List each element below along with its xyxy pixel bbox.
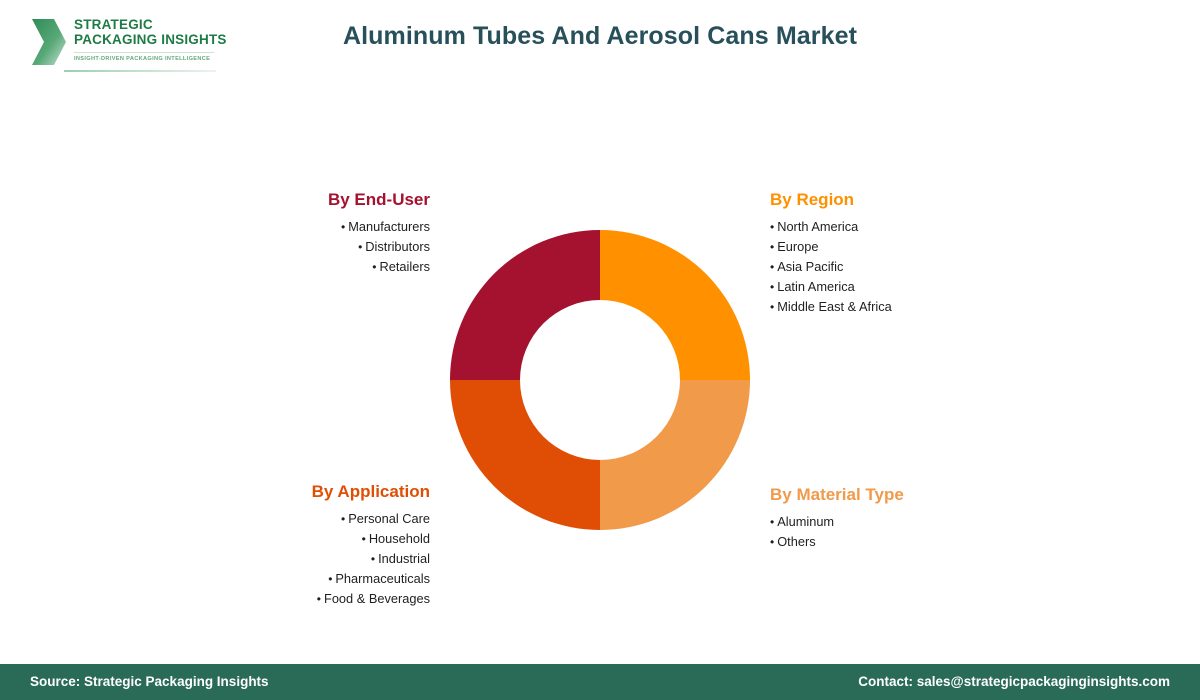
list-item: •Asia Pacific (770, 257, 1050, 277)
footer-source-label: Source: Strategic Packaging Insights (30, 664, 269, 700)
segment-block-material-type: By Material Type •Aluminum •Others (770, 485, 1050, 552)
segment-list-application: •Personal Care •Household •Industrial •P… (190, 509, 430, 609)
donut-slice-region[interactable] (600, 230, 750, 380)
segment-list-region: •North America •Europe •Asia Pacific •La… (770, 217, 1050, 317)
list-item-label: Latin America (777, 279, 855, 294)
list-item: •Household (190, 529, 430, 549)
bullet-icon: • (362, 532, 369, 546)
list-item: •Pharmaceuticals (190, 569, 430, 589)
list-item: •North America (770, 217, 1050, 237)
segment-list-end-user: •Manufacturers •Distributors •Retailers (190, 217, 430, 277)
donut-slice-application[interactable] (450, 380, 600, 530)
list-item-label: Personal Care (348, 511, 430, 526)
segment-title-region: By Region (770, 190, 1050, 210)
list-item-label: Others (777, 534, 815, 549)
segment-title-end-user: By End-User (190, 190, 430, 210)
list-item-label: Food & Beverages (324, 591, 430, 606)
segment-title-application: By Application (190, 482, 430, 502)
segment-block-application: By Application •Personal Care •Household… (190, 482, 430, 609)
segment-list-material-type: •Aluminum •Others (770, 512, 1050, 552)
list-item: •Others (770, 532, 1050, 552)
list-item: •Latin America (770, 277, 1050, 297)
page-title: Aluminum Tubes And Aerosol Cans Market (0, 22, 1200, 51)
bullet-icon: • (317, 592, 324, 606)
logo-underline (64, 70, 216, 72)
list-item: •Europe (770, 237, 1050, 257)
list-item: •Middle East & Africa (770, 297, 1050, 317)
logo-divider (74, 52, 214, 53)
list-item-label: Europe (777, 239, 818, 254)
list-item-label: Household (369, 531, 430, 546)
market-segmentation-donut-chart (450, 230, 750, 530)
list-item: •Distributors (190, 237, 430, 257)
list-item: •Manufacturers (190, 217, 430, 237)
list-item: •Personal Care (190, 509, 430, 529)
list-item-label: Asia Pacific (777, 259, 843, 274)
list-item-label: Aluminum (777, 514, 834, 529)
list-item-label: Pharmaceuticals (335, 571, 430, 586)
list-item-label: Manufacturers (348, 219, 430, 234)
bullet-icon: • (372, 260, 379, 274)
list-item-label: Retailers (380, 259, 431, 274)
page-header: STRATEGIC PACKAGING INSIGHTS INSIGHT-DRI… (0, 0, 1200, 95)
segment-block-region: By Region •North America •Europe •Asia P… (770, 190, 1050, 317)
segment-title-material-type: By Material Type (770, 485, 1050, 505)
bullet-icon: • (371, 552, 378, 566)
segment-block-end-user: By End-User •Manufacturers •Distributors… (190, 190, 430, 277)
page-footer: Source: Strategic Packaging Insights Con… (0, 664, 1200, 700)
logo-tagline: INSIGHT-DRIVEN PACKAGING INTELLIGENCE (74, 56, 210, 62)
list-item-label: Industrial (378, 551, 430, 566)
list-item-label: Distributors (365, 239, 430, 254)
list-item: •Food & Beverages (190, 589, 430, 609)
list-item-label: Middle East & Africa (777, 299, 892, 314)
list-item-label: North America (777, 219, 858, 234)
footer-contact-label[interactable]: Contact: sales@strategicpackaginginsight… (858, 664, 1170, 700)
donut-slice-material-type[interactable] (600, 380, 750, 530)
list-item: •Aluminum (770, 512, 1050, 532)
list-item: •Industrial (190, 549, 430, 569)
donut-slice-end-user[interactable] (450, 230, 600, 380)
list-item: •Retailers (190, 257, 430, 277)
